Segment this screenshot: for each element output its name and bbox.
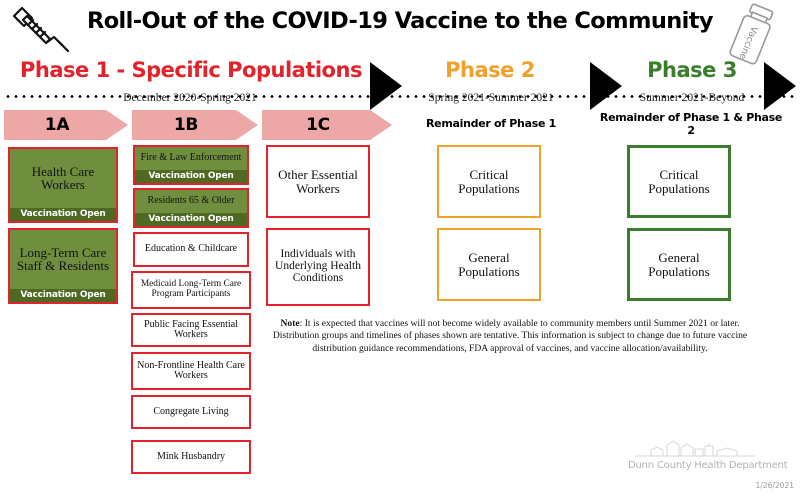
group-box-residents-65-older: Residents 65 & Older Vaccination Open bbox=[133, 188, 249, 228]
note-prefix: Note bbox=[280, 318, 299, 329]
phase-2-subheading: Remainder of Phase 1 bbox=[398, 118, 584, 131]
group-label: Congregate Living bbox=[133, 397, 249, 427]
subphase-label-1a: 1A bbox=[45, 115, 69, 135]
subphase-arrow-1a: 1A bbox=[4, 110, 128, 140]
group-label: Public Facing Essential Workers bbox=[133, 315, 249, 345]
phase2-box-general-populations: General Populations bbox=[437, 228, 541, 301]
group-box-congregate-living: Congregate Living bbox=[131, 395, 251, 429]
group-label: Fire & Law Enforcement bbox=[135, 147, 247, 170]
group-label: Mink Husbandry bbox=[133, 442, 249, 472]
group-label: Non-Frontline Health Care Workers bbox=[133, 354, 249, 388]
phase2-box-critical-populations: Critical Populations bbox=[437, 145, 541, 218]
phase-3-dates: Summer 2021-Beyond bbox=[608, 92, 776, 104]
phase-2-heading: Phase 2 bbox=[400, 58, 580, 82]
subphase-label-1b: 1B bbox=[174, 115, 198, 135]
group-box-non-frontline-health-care: Non-Frontline Health Care Workers bbox=[131, 352, 251, 390]
group-label: Long-Term Care Staff & Residents bbox=[10, 230, 116, 289]
group-box-health-care-workers: Health Care Workers Vaccination Open bbox=[8, 147, 118, 223]
group-label: Residents 65 & Older bbox=[135, 190, 247, 213]
infographic-page: Roll-Out of the COVID-19 Vaccine to the … bbox=[0, 0, 800, 496]
phase-1-heading: Phase 1 - Specific Populations bbox=[20, 58, 360, 82]
phase-2-dates: Spring 2021-Summer 2021 bbox=[398, 92, 584, 104]
group-label: Health Care Workers bbox=[10, 149, 116, 208]
group-label: General Populations bbox=[630, 231, 728, 298]
vaccination-status-badge: Vaccination Open bbox=[10, 208, 116, 222]
phase3-box-general-populations: General Populations bbox=[627, 228, 731, 301]
skyline-logo-icon bbox=[633, 437, 757, 459]
subphase-label-1c: 1C bbox=[306, 115, 330, 135]
group-box-medicaid-ltc: Medicaid Long-Term Care Program Particip… bbox=[131, 271, 251, 309]
group-label: Critical Populations bbox=[630, 148, 728, 215]
org-name: Dunn County Health Department bbox=[628, 460, 762, 471]
group-box-public-facing-essential: Public Facing Essential Workers bbox=[131, 313, 251, 347]
phase-divider-arrow-3 bbox=[764, 62, 796, 110]
phase-3-heading: Phase 3 bbox=[614, 58, 770, 82]
group-box-fire-law-enforcement: Fire & Law Enforcement Vaccination Open bbox=[133, 145, 249, 185]
group-box-mink-husbandry: Mink Husbandry bbox=[131, 440, 251, 474]
vaccination-status-badge: Vaccination Open bbox=[135, 213, 247, 227]
group-label: General Populations bbox=[439, 230, 539, 299]
subphase-arrow-1c: 1C bbox=[262, 110, 392, 140]
vaccination-status-badge: Vaccination Open bbox=[135, 170, 247, 184]
group-box-long-term-care: Long-Term Care Staff & Residents Vaccina… bbox=[8, 228, 118, 304]
phase-3-subheading: Remainder of Phase 1 & Phase 2 bbox=[598, 112, 784, 137]
group-box-underlying-conditions: Individuals with Underlying Health Condi… bbox=[266, 228, 370, 306]
page-title: Roll-Out of the COVID-19 Vaccine to the … bbox=[60, 8, 740, 34]
group-label: Other Essential Workers bbox=[268, 147, 368, 216]
phase3-box-critical-populations: Critical Populations bbox=[627, 145, 731, 218]
group-box-education-childcare: Education & Childcare bbox=[133, 232, 249, 267]
date-stamp: 1/26/2021 bbox=[756, 481, 794, 490]
group-label: Individuals with Underlying Health Condi… bbox=[268, 230, 368, 304]
group-label: Critical Populations bbox=[439, 147, 539, 216]
phase-1-dates: December 2020-Spring 2021 bbox=[20, 92, 360, 104]
group-label: Education & Childcare bbox=[135, 234, 247, 265]
note-body: : It is expected that vaccines will not … bbox=[273, 318, 747, 354]
disclaimer-note: Note: It is expected that vaccines will … bbox=[264, 318, 756, 355]
footer-logo: Dunn County Health Department bbox=[628, 437, 762, 471]
group-box-other-essential-workers: Other Essential Workers bbox=[266, 145, 370, 218]
subphase-arrow-1b: 1B bbox=[132, 110, 258, 140]
group-label: Medicaid Long-Term Care Program Particip… bbox=[133, 273, 249, 307]
vaccination-status-badge: Vaccination Open bbox=[10, 289, 116, 303]
